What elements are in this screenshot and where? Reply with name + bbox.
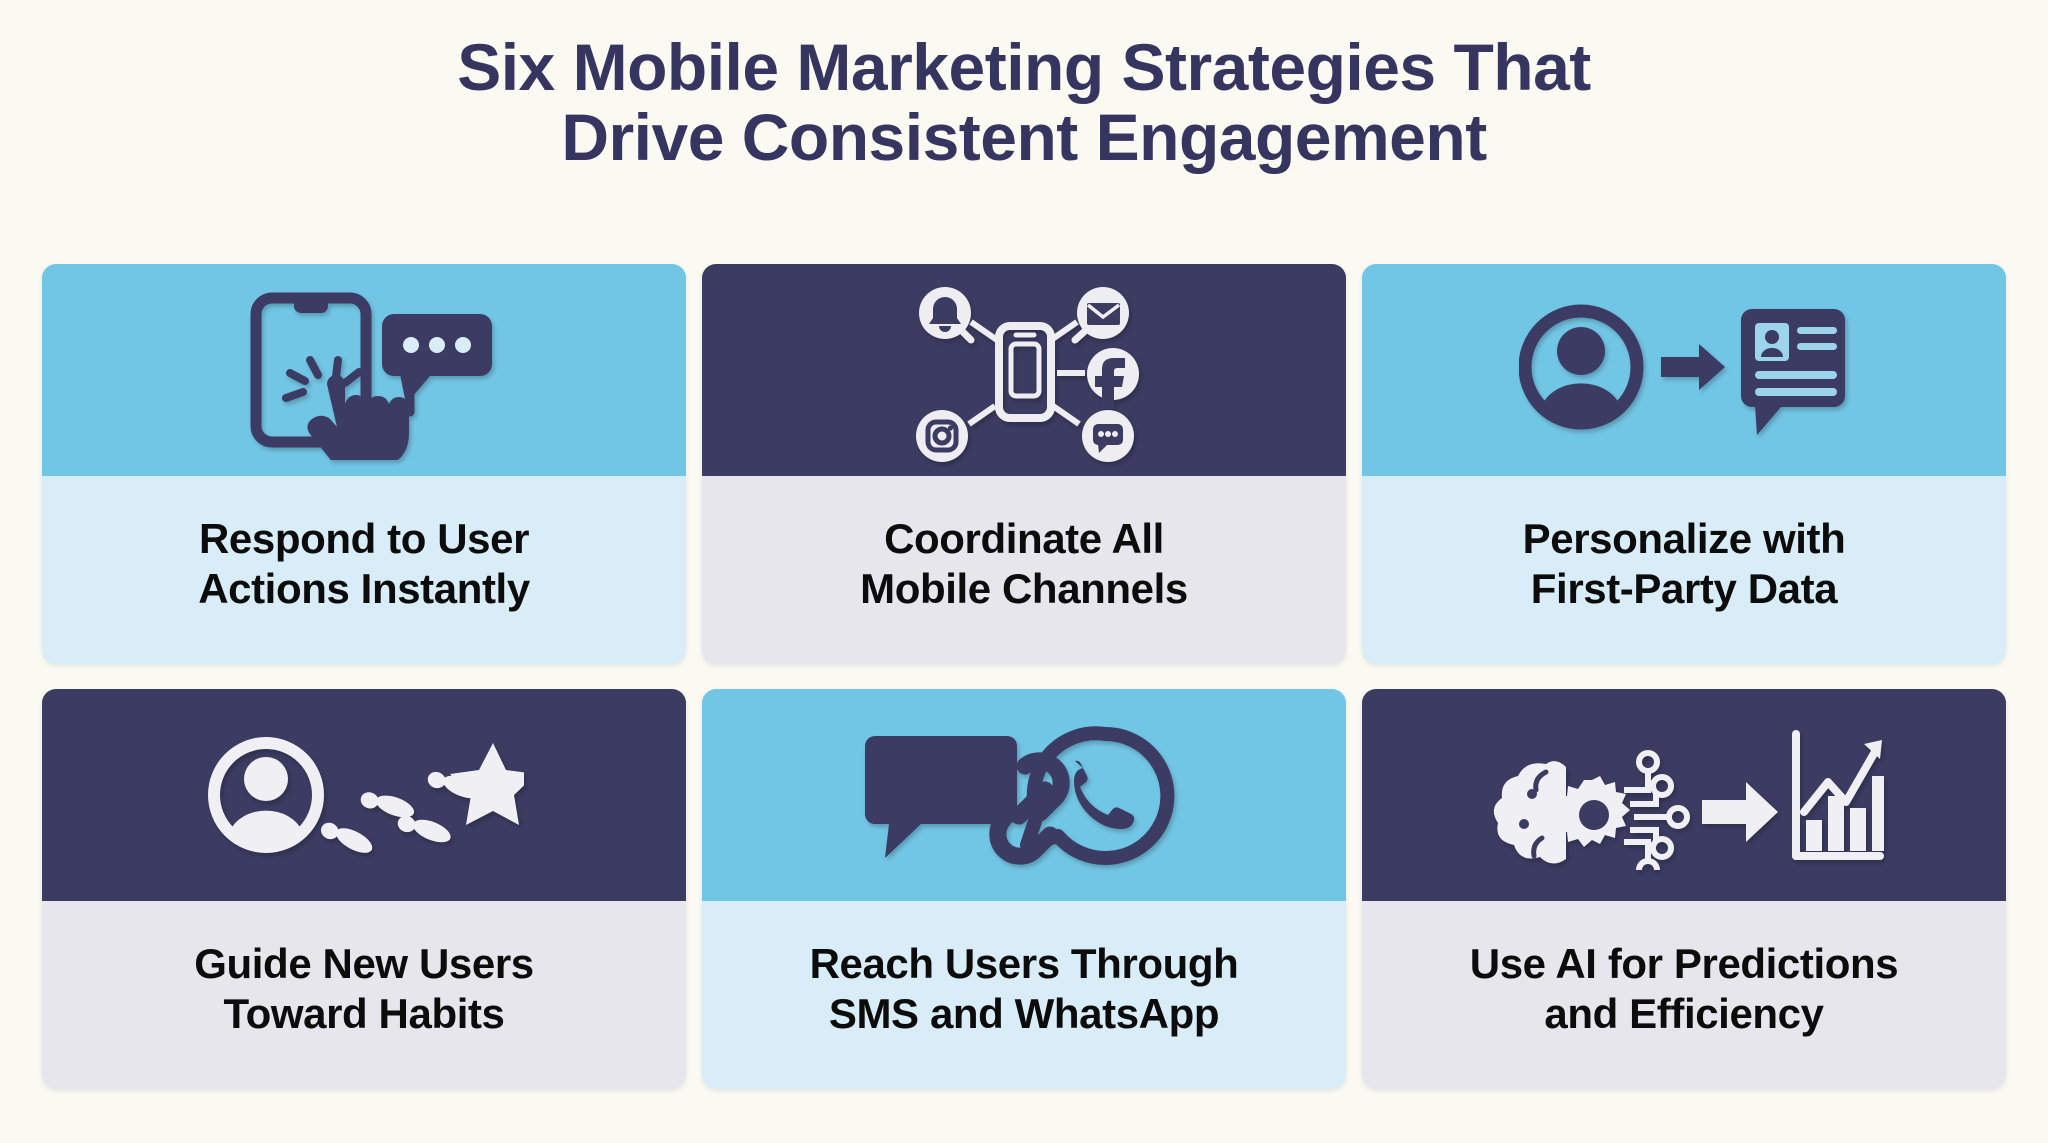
card-title: Guide New Users Toward Habits: [194, 939, 533, 1038]
card-title-line-2: Toward Habits: [223, 990, 504, 1037]
card-title-line-1: Coordinate All: [884, 515, 1164, 562]
card-title-line-2: and Efficiency: [1544, 990, 1823, 1037]
card-text-body: Guide New Users Toward Habits: [42, 901, 686, 1089]
strategy-card-personalize-first-party-data[interactable]: Personalize with First-Party Data: [1362, 264, 2006, 664]
card-title: Use AI for Predictions and Efficiency: [1470, 939, 1898, 1038]
card-title-line-2: Mobile Channels: [860, 565, 1188, 612]
page-title-line-2: Drive Consistent Engagement: [0, 103, 2048, 173]
card-title-line-1: Use AI for Predictions: [1470, 940, 1898, 987]
strategy-card-coordinate-mobile-channels[interactable]: Coordinate All Mobile Channels: [702, 264, 1346, 664]
card-title-line-2: Actions Instantly: [198, 565, 530, 612]
card-icon-header: [1362, 264, 2006, 476]
user-to-profile-card-icon: [1362, 264, 2006, 476]
card-text-body: Use AI for Predictions and Efficiency: [1362, 901, 2006, 1089]
card-text-body: Respond to User Actions Instantly: [42, 476, 686, 664]
card-icon-header: [42, 264, 686, 476]
card-icon-header: [702, 264, 1346, 476]
card-text-body: Reach Users Through SMS and WhatsApp: [702, 901, 1346, 1089]
card-title: Personalize with First-Party Data: [1523, 514, 1846, 613]
ai-brain-to-growth-chart-icon: [1362, 689, 2006, 901]
card-title: Reach Users Through SMS and WhatsApp: [810, 939, 1239, 1038]
card-icon-header: [702, 689, 1346, 901]
page-title: Six Mobile Marketing Strategies That Dri…: [0, 0, 2048, 173]
card-text-body: Coordinate All Mobile Channels: [702, 476, 1346, 664]
strategy-card-use-ai-predictions[interactable]: Use AI for Predictions and Efficiency: [1362, 689, 2006, 1089]
card-title: Respond to User Actions Instantly: [198, 514, 530, 613]
phone-tap-chat-icon: [42, 264, 686, 476]
sms-link-whatsapp-icon: [702, 689, 1346, 901]
card-title-line-2: First-Party Data: [1531, 565, 1837, 612]
card-text-body: Personalize with First-Party Data: [1362, 476, 2006, 664]
card-title: Coordinate All Mobile Channels: [860, 514, 1188, 613]
card-icon-header: [42, 689, 686, 901]
infographic-poster: Six Mobile Marketing Strategies That Dri…: [0, 0, 2048, 1143]
user-footsteps-star-icon: [42, 689, 686, 901]
card-title-line-1: Personalize with: [1523, 515, 1846, 562]
strategy-card-reach-users-sms-whatsapp[interactable]: Reach Users Through SMS and WhatsApp: [702, 689, 1346, 1089]
card-title-line-1: Guide New Users: [194, 940, 533, 987]
card-title-line-2: SMS and WhatsApp: [829, 990, 1219, 1037]
card-title-line-1: Reach Users Through: [810, 940, 1239, 987]
strategy-card-grid: Respond to User Actions Instantly: [42, 264, 2006, 1089]
card-title-line-1: Respond to User: [199, 515, 529, 562]
page-title-line-1: Six Mobile Marketing Strategies That: [0, 33, 2048, 103]
strategy-card-guide-new-users[interactable]: Guide New Users Toward Habits: [42, 689, 686, 1089]
card-icon-header: [1362, 689, 2006, 901]
strategy-card-respond-to-user-actions[interactable]: Respond to User Actions Instantly: [42, 264, 686, 664]
multichannel-phone-icon: [702, 264, 1346, 476]
